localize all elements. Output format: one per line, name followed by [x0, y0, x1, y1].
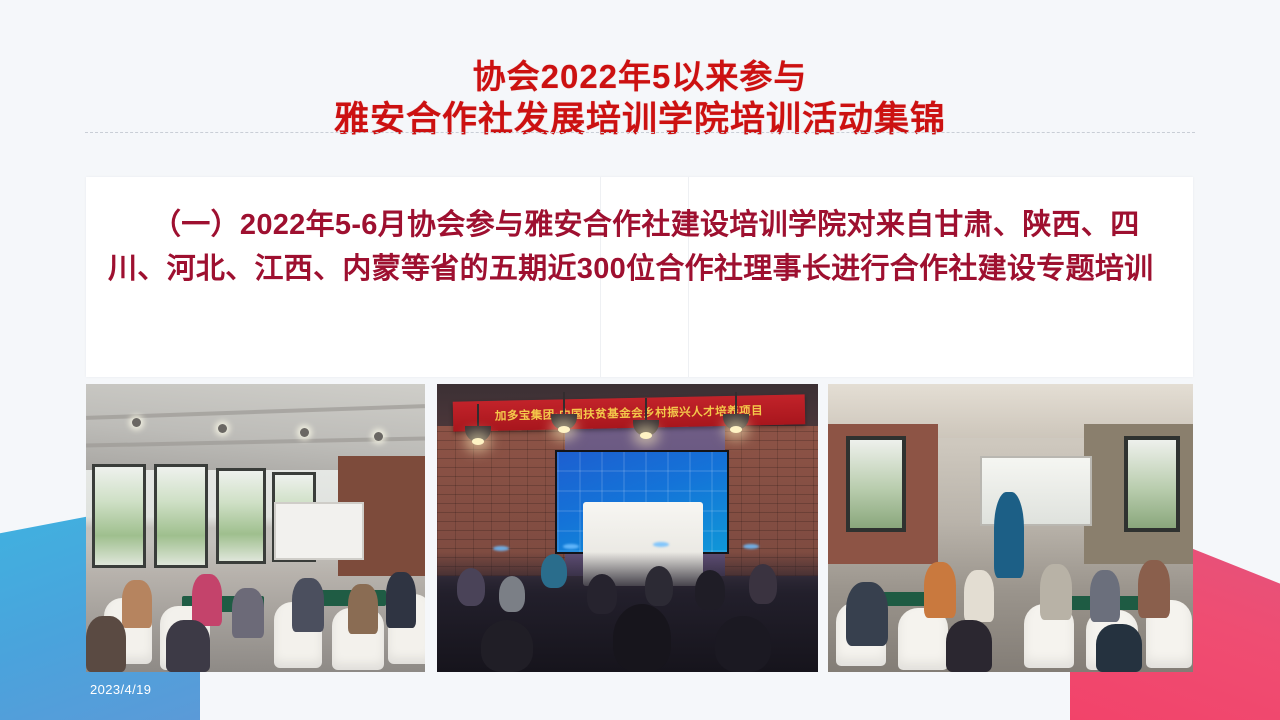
title-line-1: 协会2022年5以来参与: [0, 56, 1280, 98]
photo-2-canvas: 加多宝集团·中国扶贫基金会乡村振兴人才培养项目: [437, 384, 818, 672]
title-line-2: 雅安合作社发展培训学院培训活动集锦: [0, 98, 1280, 143]
date-stamp: 2023/4/19: [90, 682, 151, 697]
title-divider-line: [85, 132, 1195, 133]
photo-hall-windows: [86, 384, 425, 672]
body-paragraph: （一）2022年5-6月协会参与雅安合作社建设培训学院对来自甘肃、陕西、四川、河…: [108, 203, 1178, 291]
photo-banner-projector: 加多宝集团·中国扶贫基金会乡村振兴人才培养项目: [437, 384, 818, 672]
photo-strip: 加多宝集团·中国扶贫基金会乡村振兴人才培养项目: [86, 384, 1193, 672]
photo-1-canvas: [86, 384, 425, 672]
photo-hall-speaker: [828, 384, 1193, 672]
slide-canvas: 协会2022年5以来参与 雅安合作社发展培训学院培训活动集锦 （一）2022年5…: [0, 0, 1280, 720]
photo-3-canvas: [828, 384, 1193, 672]
body-text-panel: （一）2022年5-6月协会参与雅安合作社建设培训学院对来自甘肃、陕西、四川、河…: [86, 177, 1193, 377]
slide-title: 协会2022年5以来参与 雅安合作社发展培训学院培训活动集锦: [0, 56, 1280, 143]
